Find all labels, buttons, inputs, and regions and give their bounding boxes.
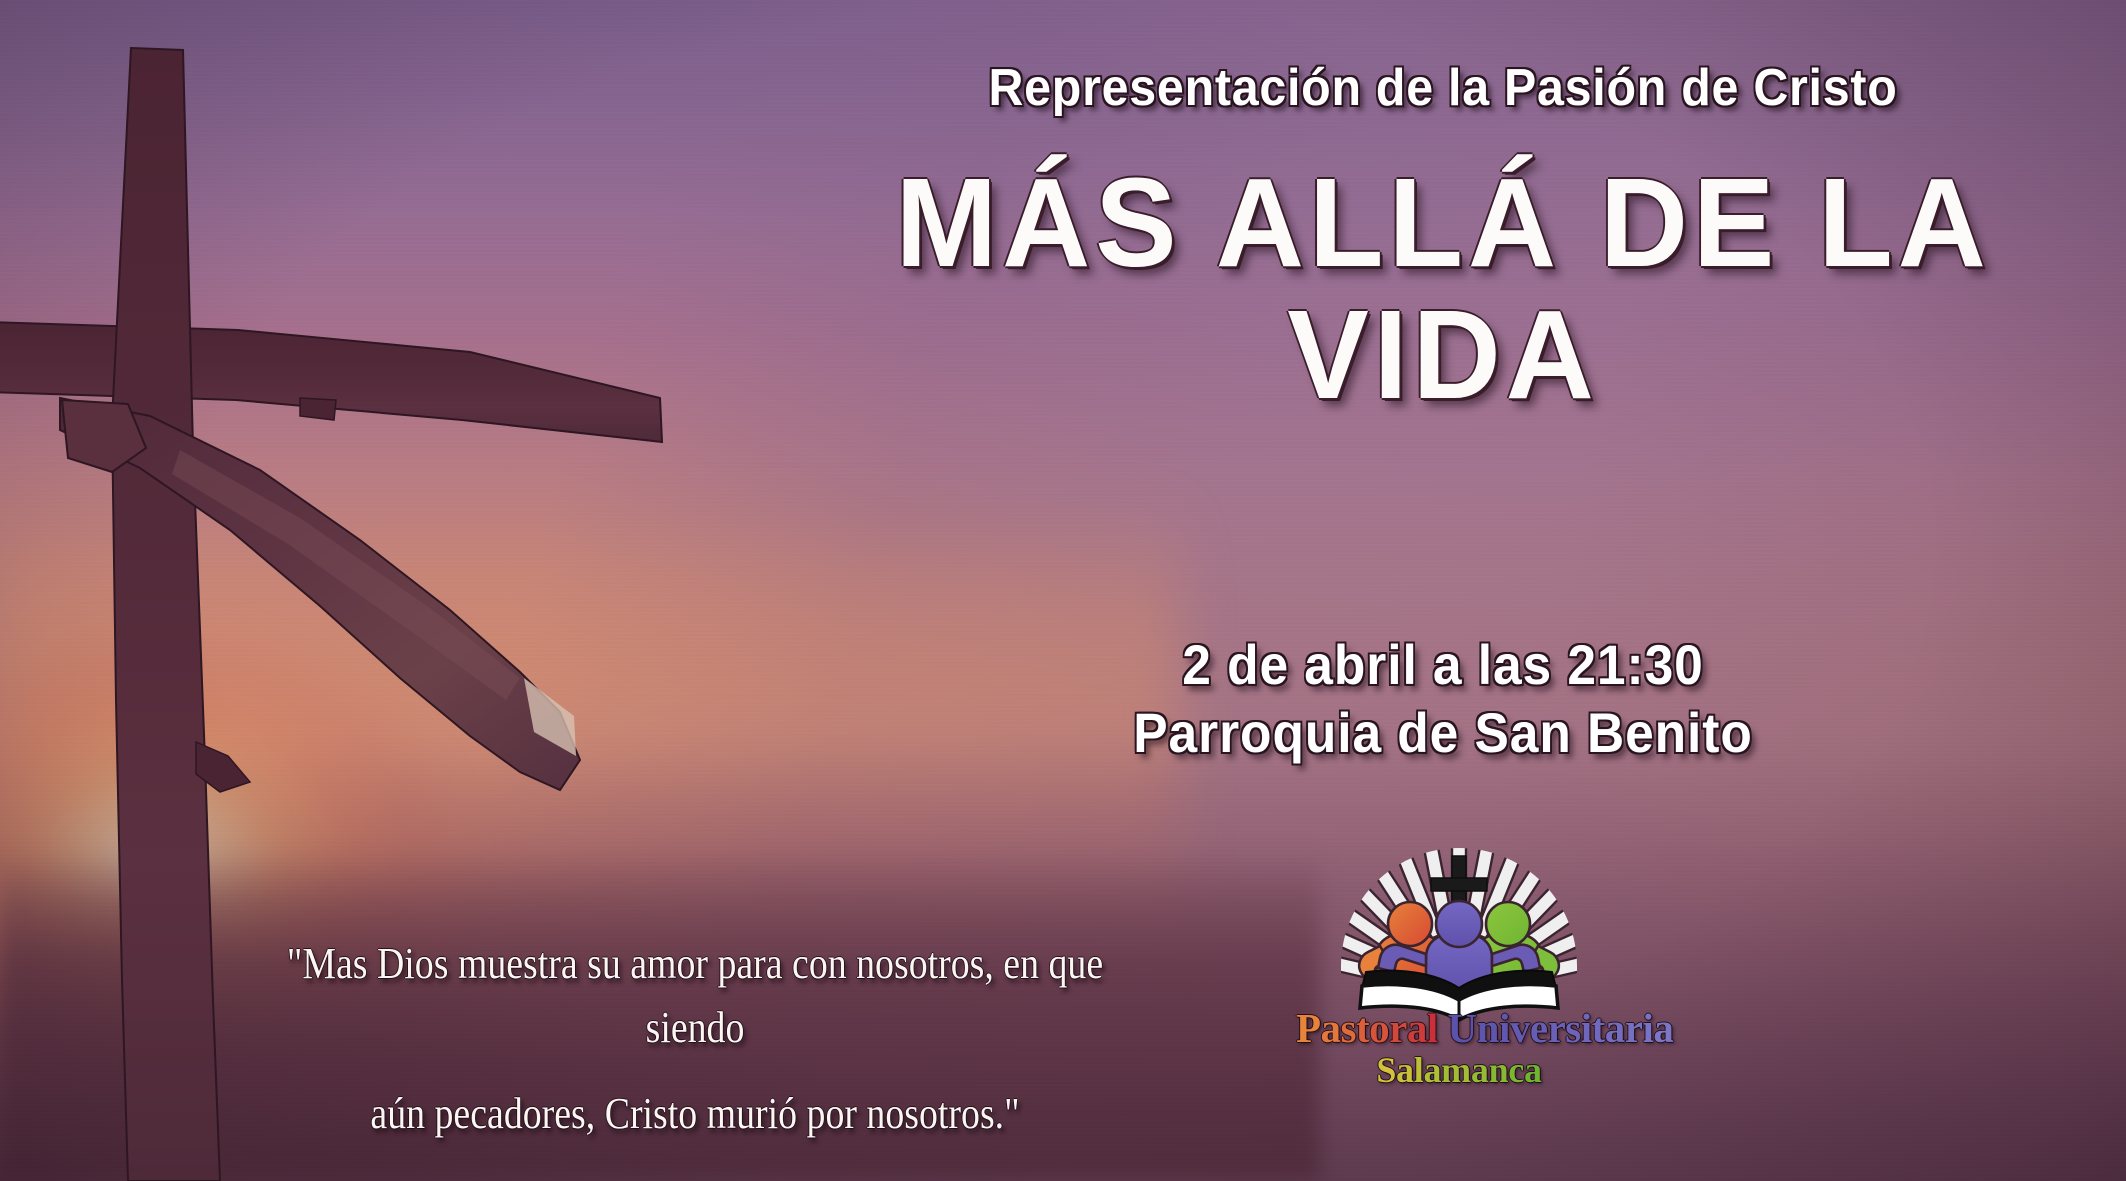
wordmark-line-2: Salamanca xyxy=(1296,1052,1622,1088)
scripture-quote: "Mas Dios muestra su amor para con nosot… xyxy=(252,932,1138,1145)
poster-title-line2: VIDA xyxy=(856,292,2030,418)
quote-line-2: aún pecadores, Cristo murió por nosotros… xyxy=(252,1082,1138,1146)
wordmark-universitaria: Universitaria xyxy=(1448,1005,1674,1051)
person-left-head xyxy=(1388,902,1432,946)
person-center-head xyxy=(1436,901,1482,947)
logo-mark xyxy=(1318,842,1600,1022)
wordmark-pastoral: Pastoral xyxy=(1296,1005,1438,1051)
person-right-head xyxy=(1486,902,1530,946)
poster-date: 2 de abril a las 21:30 xyxy=(886,632,1999,697)
quote-line-1: "Mas Dios muestra su amor para con nosot… xyxy=(287,939,1103,1052)
cloth-sheen xyxy=(172,450,520,700)
poster-venue: Parroquia de San Benito xyxy=(886,700,1999,765)
cross-vertical-post xyxy=(112,48,220,1181)
poster-kicker: Representación de la Pasión de Cristo xyxy=(880,58,2005,118)
wordmark-line-1: Pastoral Universitaria xyxy=(1296,1008,1622,1049)
wordmark-salamanca: Salamanca xyxy=(1376,1050,1541,1090)
poster-title-line1: MÁS ALLÁ DE LA xyxy=(856,160,2030,286)
cross-beam-nub xyxy=(300,398,336,420)
poster-canvas: Representación de la Pasión de Cristo MÁ… xyxy=(0,0,2126,1181)
pastoral-universitaria-logo: Pastoral Universitaria Salamanca xyxy=(1318,842,1600,1064)
logo-wordmark: Pastoral Universitaria Salamanca xyxy=(1296,1008,1622,1088)
